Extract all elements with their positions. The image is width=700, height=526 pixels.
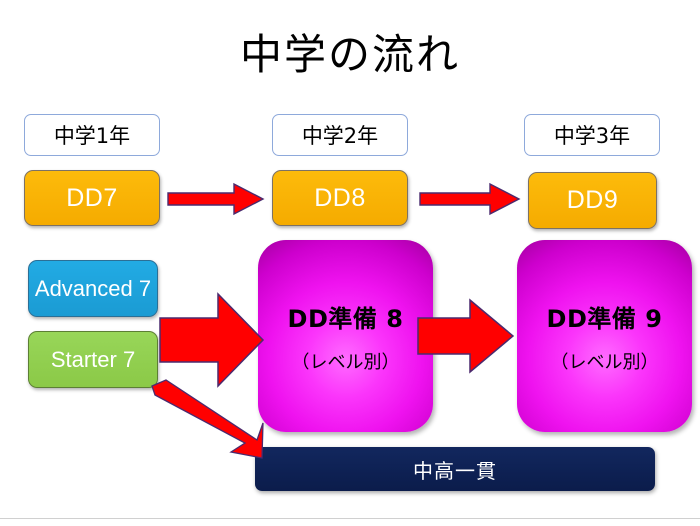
unified-track-bar: 中高一貫 [255, 447, 655, 491]
arrow-starter-to-unified-track-icon [140, 380, 264, 464]
year-label-3: 中学3年 [524, 114, 660, 156]
arrow-dd8-to-dd9-icon [420, 183, 520, 215]
course-box-dd-prep-9-title: DD準備 9 [547, 299, 663, 334]
course-box-dd9: DD9 [528, 172, 657, 229]
year-label-2: 中学2年 [272, 114, 408, 156]
course-box-advanced-7: Advanced 7 [28, 260, 158, 317]
course-box-dd7: DD7 [24, 170, 160, 226]
course-box-dd-prep-9: DD準備 9 （レベル別） [517, 240, 692, 432]
arrow-prep8-to-prep9-icon [418, 298, 514, 374]
course-box-dd8: DD8 [272, 170, 408, 226]
arrow-levels-to-prep8-icon [160, 292, 264, 388]
slide-canvas: 中学の流れ 中学1年 中学2年 中学3年 DD7 DD8 DD9 Advance… [0, 0, 700, 526]
course-box-dd-prep-8-title: DD準備 8 [288, 299, 404, 334]
course-box-dd-prep-9-subtitle: （レベル別） [551, 348, 659, 374]
slide-bottom-divider [0, 518, 700, 519]
year-label-1: 中学1年 [24, 114, 160, 156]
course-box-dd-prep-8: DD準備 8 （レベル別） [258, 240, 433, 432]
course-box-starter-7: Starter 7 [28, 331, 158, 388]
course-box-dd-prep-8-subtitle: （レベル別） [292, 348, 400, 374]
arrow-dd7-to-dd8-icon [168, 183, 264, 215]
page-title: 中学の流れ [0, 28, 700, 82]
